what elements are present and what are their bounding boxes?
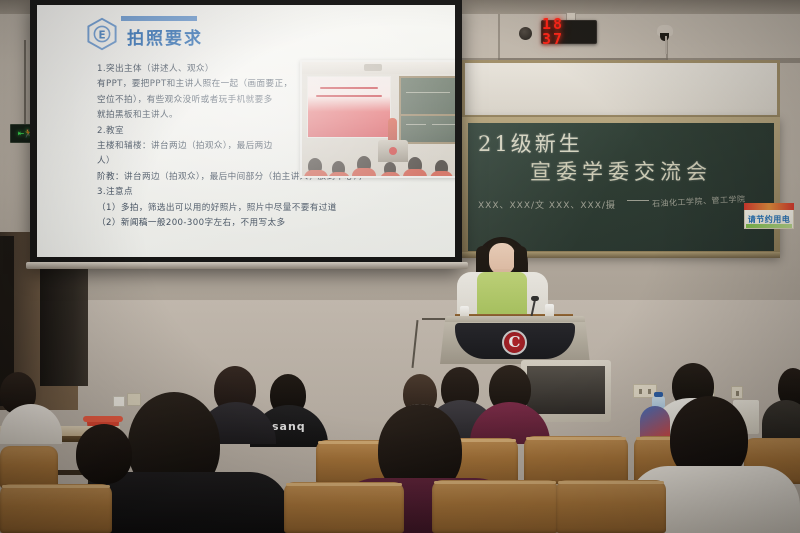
seat-top-edge bbox=[434, 481, 556, 484]
seat-top-edge bbox=[526, 437, 626, 440]
auditorium-seat[interactable] bbox=[432, 480, 558, 533]
foreground-layer: sanq bbox=[0, 0, 800, 533]
classroom-photo-scene: 18 37 21级新生 宣委学委交流会 XXX、XXX/文 XXX、XXX/摄 … bbox=[0, 0, 800, 533]
auditorium-seat[interactable] bbox=[284, 482, 404, 533]
audience-shirt-text: sanq bbox=[272, 420, 306, 433]
auditorium-seat[interactable] bbox=[0, 484, 112, 533]
seat-top-edge bbox=[2, 485, 110, 488]
audience-head-foreground bbox=[76, 424, 132, 484]
light-switch[interactable] bbox=[127, 393, 141, 406]
audience-sleeve bbox=[640, 406, 670, 440]
light-switch[interactable] bbox=[113, 396, 125, 407]
wall-socket bbox=[731, 386, 743, 399]
trash-bin-rim bbox=[83, 416, 123, 422]
auditorium-seat[interactable] bbox=[556, 480, 666, 533]
seat-top-edge bbox=[286, 483, 402, 486]
bottle-cap bbox=[654, 392, 663, 397]
audience-body bbox=[762, 400, 800, 440]
seat-top-edge bbox=[558, 481, 664, 484]
auditorium-seat[interactable] bbox=[0, 446, 58, 488]
auditorium-seat[interactable] bbox=[524, 436, 628, 484]
wall-monitor-screen bbox=[527, 366, 605, 414]
